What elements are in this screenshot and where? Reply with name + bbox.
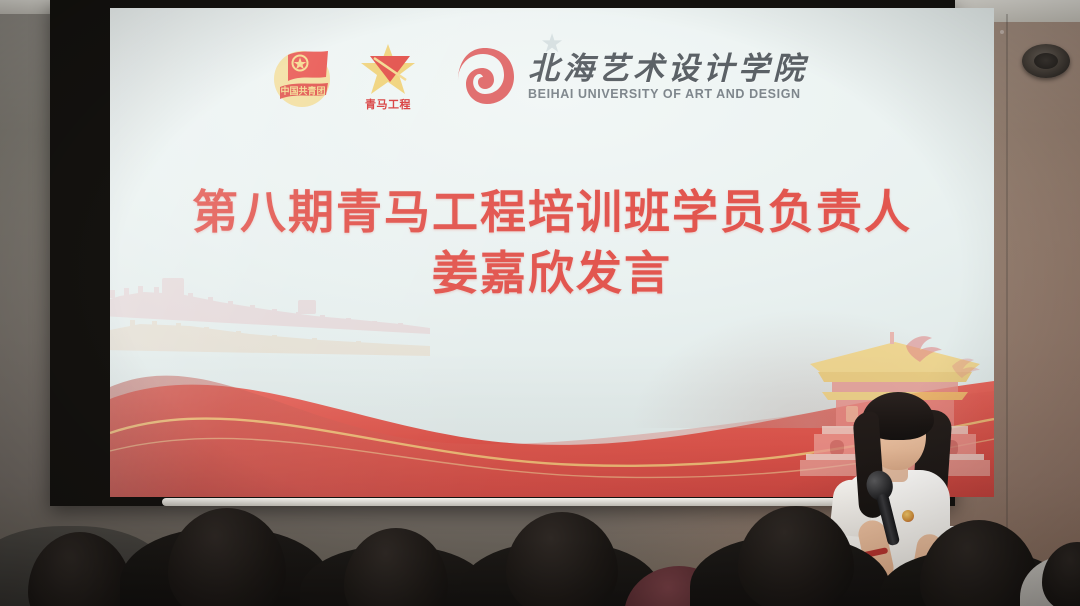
university-swirl-icon <box>452 44 518 110</box>
qingma-label: 青马工程 <box>365 96 411 112</box>
university-name-cn: 北海艺术设计学院 <box>528 53 808 86</box>
qingma-project-logo-icon: 青马工程 <box>352 42 424 112</box>
wall-fixture-dot <box>1000 30 1004 34</box>
audience-head <box>344 528 448 606</box>
audience-head <box>506 512 618 606</box>
svg-text:中国共青团: 中国共青团 <box>280 85 325 97</box>
audience-head <box>738 506 854 606</box>
university-logo: 北海艺术设计学院 BEIHAI UNIVERSITY OF ART AND DE… <box>452 44 808 110</box>
university-text: 北海艺术设计学院 BEIHAI UNIVERSITY OF ART AND DE… <box>528 53 808 101</box>
audience-head <box>168 508 286 606</box>
university-name-en: BEIHAI UNIVERSITY OF ART AND DESIGN <box>528 87 808 101</box>
audience-head <box>1042 542 1080 606</box>
slide-title-line2: 姜嘉欣发言 <box>110 244 994 305</box>
audience-foreground <box>0 456 1080 606</box>
ceiling-speaker-fixture <box>1022 44 1070 78</box>
slide-title-line1: 第八期青马工程培训班学员负责人 <box>192 187 912 238</box>
screenshot-stage: ★ 中国共青团 青马工程 <box>0 0 1080 606</box>
slide-logo-row: 中国共青团 青马工程 北海艺术设计学院 B <box>270 34 830 120</box>
communist-youth-league-emblem-icon: 中国共青团 <box>270 43 338 111</box>
slide-title: 第八期青马工程培训班学员负责人 姜嘉欣发言 <box>110 183 994 304</box>
flying-doves-icon <box>890 330 994 385</box>
